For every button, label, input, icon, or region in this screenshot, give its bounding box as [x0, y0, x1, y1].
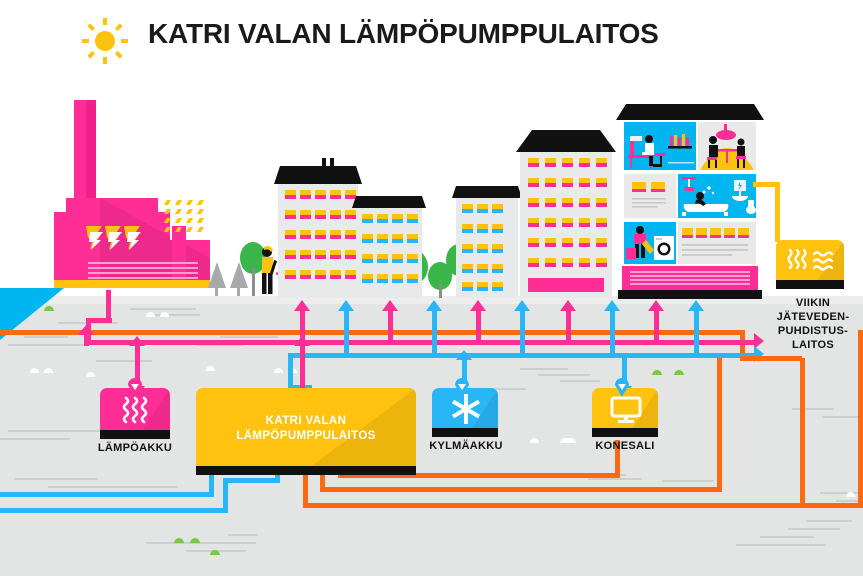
cold-battery-up-arrow	[456, 350, 472, 360]
blue-branch	[432, 310, 437, 355]
plant-heat-riser-arrow	[294, 336, 310, 346]
blue-branch-arrow	[514, 300, 530, 311]
viiki-label-line-1: VIIKIN	[770, 296, 856, 310]
module-label-kylmaakku: KYLMÄAKKU	[420, 440, 512, 453]
heat-dots-grid	[164, 200, 204, 236]
viiki-yellow-link	[753, 182, 780, 187]
pebble	[206, 366, 215, 371]
plant-facade-lines	[88, 262, 198, 278]
soil-stroke	[662, 480, 714, 482]
basement-lines	[630, 271, 750, 285]
soil-stroke	[760, 536, 814, 538]
soil-stroke	[130, 308, 196, 310]
pink-branch-arrow	[648, 300, 664, 311]
blue-branch	[694, 310, 699, 355]
conifer-tree	[208, 262, 226, 288]
orange-main-pipe	[0, 330, 745, 335]
pebble	[530, 438, 539, 443]
soil-stroke	[8, 430, 104, 432]
viiki-yellow-riser	[775, 182, 780, 242]
secondary-stack-base	[172, 280, 186, 288]
soil-stroke	[146, 542, 256, 544]
pebble	[44, 368, 53, 373]
soil-stroke	[96, 360, 152, 362]
module-label-konesali: KONESALI	[582, 440, 668, 453]
moss-patch	[210, 550, 220, 555]
moss-patch	[190, 538, 200, 543]
pink-branch	[388, 310, 393, 342]
roof-vent	[322, 158, 326, 168]
pink-branch	[566, 310, 571, 342]
bathroom-art	[678, 174, 756, 218]
page-header: KATRI VALAN LÄMPÖPUMPPULAITOS	[0, 0, 863, 80]
heat-water-waves-icon	[786, 248, 834, 274]
soil-stroke	[792, 408, 834, 410]
soil-stroke	[806, 520, 852, 522]
datacenter-foot	[592, 428, 658, 437]
infographic-canvas: LÄMPÖAKKU KATRI VALAN LÄMPÖPUMPPULAITOS …	[0, 0, 863, 576]
orange-far-right-riser	[858, 330, 863, 508]
conifer-trunk	[215, 288, 218, 296]
building-body	[278, 182, 358, 298]
viiki-label-line-2: JÄTEVEDEN-	[770, 310, 856, 324]
plant-heat-riser	[300, 344, 305, 390]
pink-branch-arrow	[470, 300, 486, 311]
home-office-art	[624, 122, 696, 170]
soil-stroke	[538, 374, 590, 376]
building-roof	[274, 166, 362, 184]
orange-return-2-riser	[717, 358, 722, 490]
pink-branch-arrow	[294, 300, 310, 311]
soil-stroke	[788, 528, 840, 530]
heat-pump-plant-foot	[196, 466, 416, 475]
soil-stroke	[520, 368, 568, 370]
viiki-label-line-3: PUHDISTUS-	[770, 324, 856, 338]
blue-return-elbow	[223, 478, 280, 483]
viiki-label-line-4: LAITOS	[770, 338, 856, 352]
moss-patch	[44, 306, 54, 311]
soil-stroke	[228, 534, 258, 536]
pebble	[146, 312, 155, 317]
living-room-art	[624, 174, 676, 218]
moss-patch	[674, 370, 684, 375]
blue-branch	[520, 310, 525, 355]
pink-branch	[476, 310, 481, 342]
cutaway-roof	[616, 104, 764, 120]
soil-stroke	[560, 380, 600, 382]
soil-stroke	[48, 486, 178, 488]
orange-return-2-h	[320, 487, 722, 492]
pebble	[86, 372, 95, 377]
pebble	[160, 312, 169, 317]
blue-branch-arrow	[688, 300, 704, 311]
orange-return-1-h	[303, 503, 863, 508]
blue-branch-arrow	[338, 300, 354, 311]
soil-stroke	[148, 314, 200, 316]
blue-return-lower-2	[0, 492, 214, 497]
heat-battery-up-arrow	[129, 336, 145, 346]
moss-patch	[652, 370, 662, 375]
pebble	[274, 368, 283, 373]
soil-stroke	[736, 544, 826, 546]
wastewater-plant-foot	[776, 280, 844, 289]
blue-branch-arrow	[426, 300, 442, 311]
server-monitor-icon	[610, 396, 642, 424]
soil-stroke	[24, 336, 68, 338]
pink-branch-arrow	[78, 325, 94, 335]
bedroom-art	[678, 222, 756, 264]
soil-stroke	[0, 438, 70, 440]
cutaway-foundation	[618, 290, 762, 299]
pebble	[30, 368, 39, 373]
building-roof	[452, 186, 522, 198]
snowflake-icon	[452, 394, 480, 424]
moss-patch	[174, 538, 184, 543]
leafy-tree-trunk	[439, 284, 442, 298]
pink-branch-arrow	[382, 300, 398, 311]
pebble	[846, 492, 855, 497]
soil-stroke	[14, 478, 98, 480]
cold-battery-foot	[432, 428, 498, 437]
dining-room-art	[698, 122, 756, 170]
heat-pump-plant-label-line2: LÄMPÖPUMPPULAITOS	[196, 429, 416, 444]
orange-viiki-link	[740, 356, 802, 361]
pink-branch-arrow	[560, 300, 576, 311]
datacenter-pin	[614, 377, 630, 397]
sun-icon	[82, 18, 128, 64]
module-label-lampoakku: LÄMPÖAKKU	[90, 442, 180, 455]
plant-foundation	[54, 280, 210, 288]
module-label-viiki: VIIKIN JÄTEVEDEN- PUHDISTUS- LAITOS	[770, 296, 856, 352]
blue-branch-arrow	[604, 300, 620, 311]
heat-waves-icon	[120, 396, 150, 424]
building-roof	[352, 196, 426, 208]
blue-pipe-to-plant	[288, 353, 293, 389]
roof-vent	[330, 158, 334, 168]
laundry-room-art	[624, 222, 676, 264]
blue-branch	[344, 310, 349, 355]
heat-battery-foot	[100, 430, 170, 439]
soil-stroke	[822, 416, 862, 418]
leafy-tree-trunk	[252, 268, 255, 296]
heat-pump-plant-label-line1: KATRI VALAN	[196, 414, 416, 429]
soil-stroke	[220, 336, 278, 338]
soil-stroke	[8, 344, 86, 346]
pink-branch	[654, 310, 659, 342]
conifer-trunk	[237, 288, 240, 296]
blue-return-lower	[0, 508, 228, 513]
heat-battery-pin	[127, 377, 143, 397]
orange-viiki-riser	[800, 358, 805, 506]
lightning-bolts-icon	[86, 226, 142, 250]
soil-stroke	[820, 492, 862, 494]
page-title: KATRI VALAN LÄMPÖPUMPPULAITOS	[148, 18, 659, 50]
pebble	[560, 438, 576, 443]
building-roof	[516, 130, 616, 152]
building-base-band	[528, 278, 604, 292]
blue-branch	[610, 310, 615, 355]
soil-stroke	[588, 478, 642, 480]
